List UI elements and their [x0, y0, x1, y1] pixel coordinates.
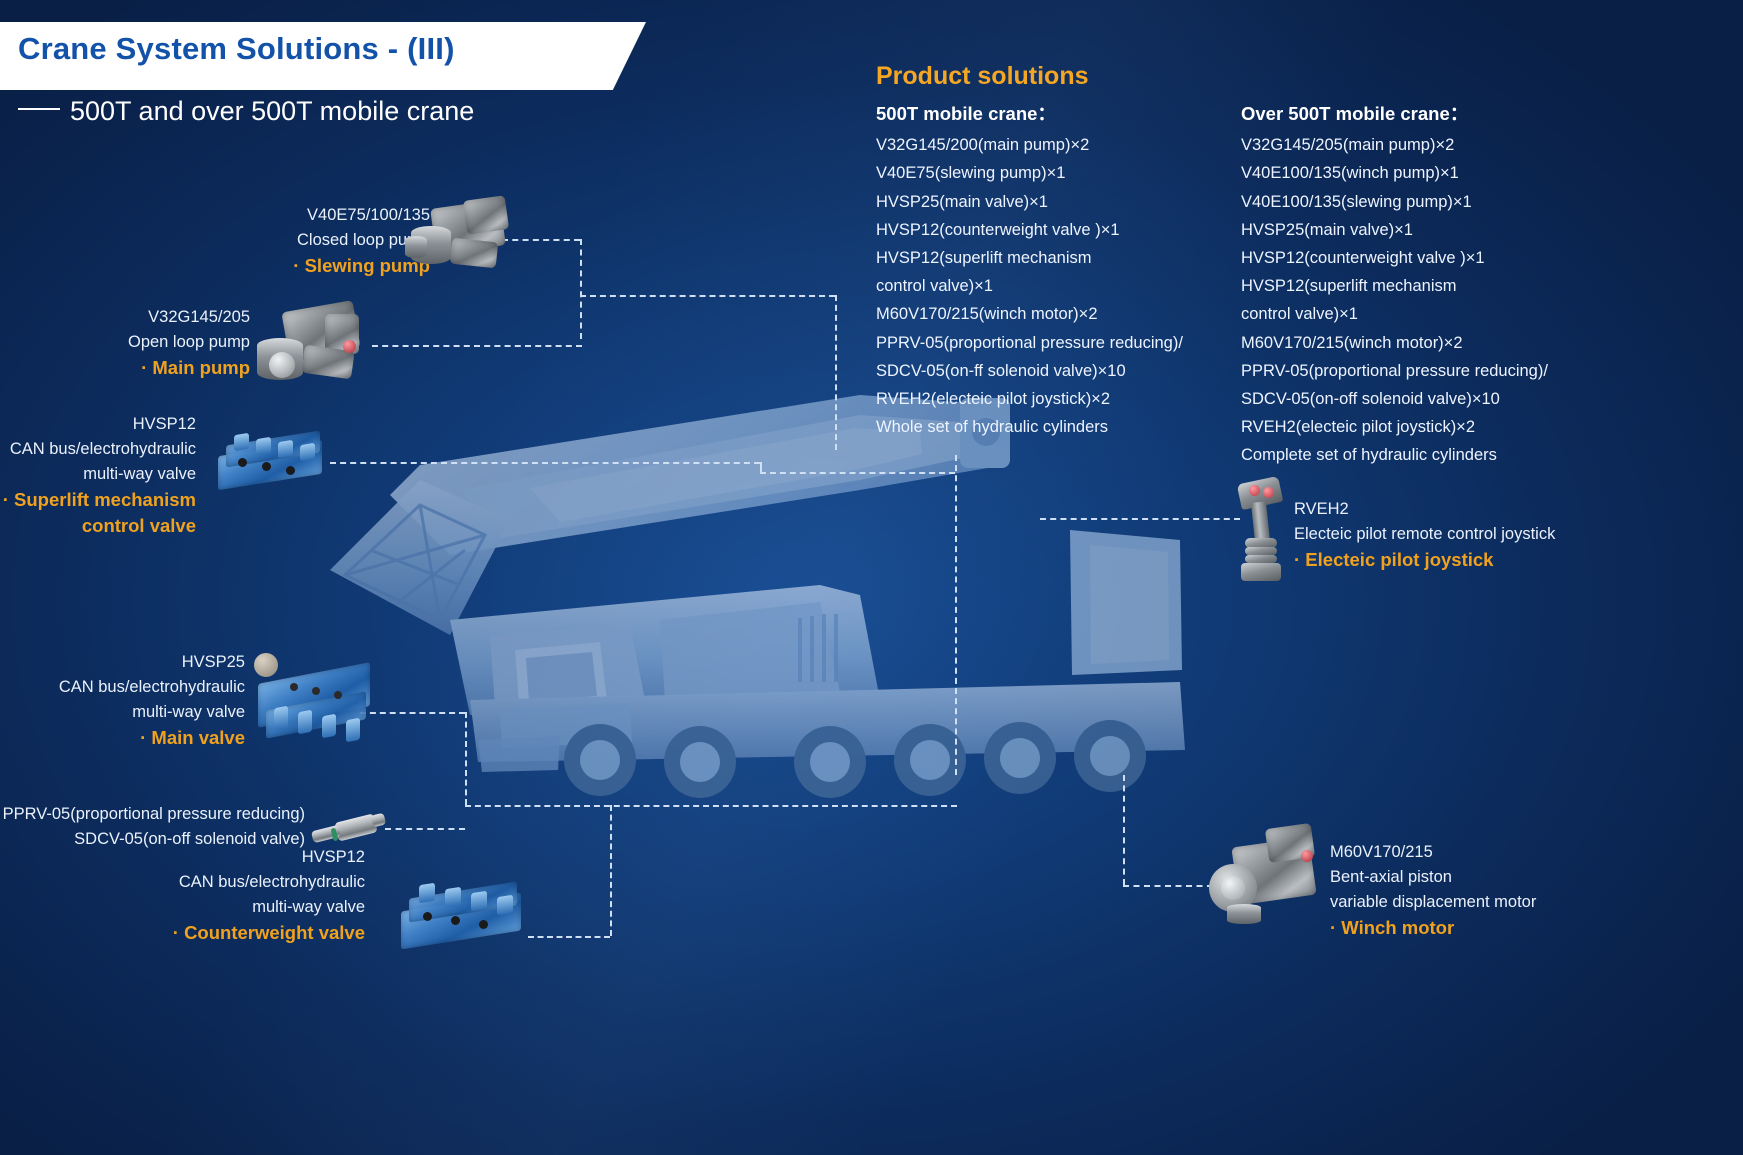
solenoid-valve-photo	[310, 812, 390, 848]
callout-line: variable displacement motor	[1330, 890, 1650, 915]
list-item: HVSP12(superlift mechanism	[1241, 272, 1641, 300]
product-solutions-title: Product solutions	[876, 62, 1089, 91]
header-stripes-decoration	[640, 22, 730, 90]
list-item: HVSP12(counterweight valve )×1	[1241, 244, 1641, 272]
callout-main-pump: V32G145/205 Open loop pump · Main pump	[60, 305, 250, 381]
product-solutions-column-over-500t: Over 500T mobile crane： V32G145/205(main…	[1241, 100, 1641, 470]
list-item: HVSP25(main valve)×1	[876, 188, 1236, 216]
list-item: Complete set of hydraulic cylinders	[1241, 441, 1641, 469]
winch-motor-photo	[1205, 820, 1335, 930]
callout-counterweight-valve: HVSP12 CAN bus/electrohydraulic multi-wa…	[60, 845, 365, 946]
callout-slewing-pump: V40E75/100/135 Closed loop pump · Slewin…	[180, 203, 430, 279]
list-item: V32G145/200(main pump)×2	[876, 131, 1236, 159]
connector-superlift-h2	[760, 472, 955, 474]
connector-main-pump-h	[372, 345, 582, 347]
connector-main-valve-h2	[465, 805, 957, 807]
callout-main-valve: HVSP25 CAN bus/electrohydraulic multi-wa…	[10, 650, 245, 751]
callout-highlight: · Main valve	[10, 725, 245, 751]
list-item: HVSP25(main valve)×1	[1241, 216, 1641, 244]
column-heading-over-500t: Over 500T mobile crane：	[1241, 100, 1641, 128]
callout-line: HVSP12	[0, 412, 196, 437]
callout-line: M60V170/215	[1330, 840, 1650, 865]
callout-line: multi-way valve	[60, 895, 365, 920]
product-solutions-column-500t: 500T mobile crane： V32G145/200(main pump…	[876, 100, 1236, 441]
list-item: RVEH2(electeic pilot joystick)×2	[876, 385, 1236, 413]
callout-line: multi-way valve	[10, 700, 245, 725]
callout-line: Bent-axial piston	[1330, 865, 1650, 890]
callout-line: PPRV-05(proportional pressure reducing)	[0, 802, 305, 827]
callout-line: CAN bus/electrohydraulic	[0, 437, 196, 462]
callout-highlight: · Slewing pump	[180, 253, 430, 279]
callout-highlight: · Superlift mechanism	[0, 487, 196, 513]
list-item: control valve)×1	[876, 272, 1236, 300]
list-item: HVSP12(superlift mechanism	[876, 244, 1236, 272]
connector-superlift-h1	[330, 462, 760, 464]
page-subtitle: 500T and over 500T mobile crane	[18, 96, 474, 127]
counterweight-valve-photo	[395, 880, 530, 955]
callout-line: V32G145/205	[60, 305, 250, 330]
column-heading-500t: 500T mobile crane：	[876, 100, 1236, 128]
connector-counterweight-h	[528, 936, 610, 938]
main-pump-photo	[255, 300, 370, 400]
subtitle-text: 500T and over 500T mobile crane	[70, 96, 474, 126]
callout-line: Electeic pilot remote control joystick	[1294, 522, 1624, 547]
connector-main-valve-h1	[360, 712, 465, 714]
callout-line: CAN bus/electrohydraulic	[60, 870, 365, 895]
callout-line: multi-way valve	[0, 462, 196, 487]
connector-winch-motor-v	[1123, 775, 1125, 885]
list-item: RVEH2(electeic pilot joystick)×2	[1241, 413, 1641, 441]
slewing-pump-photo	[405, 196, 525, 286]
list-item: M60V170/215(winch motor)×2	[876, 300, 1236, 328]
connector-joystick-h	[1040, 518, 1240, 520]
list-item: control valve)×1	[1241, 300, 1641, 328]
connector-winch-motor-h	[1123, 885, 1213, 887]
callout-winch-motor: M60V170/215 Bent-axial piston variable d…	[1330, 840, 1650, 941]
callout-line: Closed loop pump	[180, 228, 430, 253]
page-title: Crane System Solutions - (III)	[18, 31, 455, 67]
list-item: HVSP12(counterweight valve )×1	[876, 216, 1236, 244]
list-item: PPRV-05(proportional pressure reducing)/	[876, 329, 1236, 357]
callout-pilot-joystick: RVEH2 Electeic pilot remote control joys…	[1294, 497, 1624, 573]
list-item: V40E100/135(slewing pump)×1	[1241, 188, 1641, 216]
callout-line: CAN bus/electrohydraulic	[10, 675, 245, 700]
callout-highlight: control valve	[0, 513, 196, 539]
list-item: M60V170/215(winch motor)×2	[1241, 329, 1641, 357]
connector-superlift-v	[760, 462, 762, 472]
list-item: SDCV-05(on-off solenoid valve)×10	[1241, 385, 1641, 413]
connector-slewing-pump-h2	[580, 295, 835, 297]
callout-highlight: · Electeic pilot joystick	[1294, 547, 1624, 573]
list-item: V40E100/135(winch pump)×1	[1241, 159, 1641, 187]
callout-highlight: · Counterweight valve	[60, 920, 365, 946]
list-item: SDCV-05(on-ff solenoid valve)×10	[876, 357, 1236, 385]
callout-line: HVSP25	[10, 650, 245, 675]
superlift-valve-photo	[212, 430, 332, 495]
pilot-joystick-photo	[1225, 480, 1295, 585]
callout-line: Open loop pump	[60, 330, 250, 355]
subtitle-dash	[18, 108, 60, 110]
list-item: V32G145/205(main pump)×2	[1241, 131, 1641, 159]
connector-solenoid-h	[385, 828, 465, 830]
callout-line: HVSP12	[60, 845, 365, 870]
list-item: PPRV-05(proportional pressure reducing)/	[1241, 357, 1641, 385]
callout-superlift-valve: HVSP12 CAN bus/electrohydraulic multi-wa…	[0, 412, 196, 539]
callout-line: RVEH2	[1294, 497, 1624, 522]
connector-main-valve-v	[465, 712, 467, 805]
callout-line: V40E75/100/135	[180, 203, 430, 228]
main-valve-photo	[250, 645, 375, 755]
connector-superlift-v2	[955, 455, 957, 775]
callout-highlight: · Main pump	[60, 355, 250, 381]
connector-slewing-pump-v	[580, 239, 582, 339]
list-item: Whole set of hydraulic cylinders	[876, 413, 1236, 441]
connector-counterweight-v	[610, 805, 612, 936]
callout-highlight: · Winch motor	[1330, 915, 1650, 941]
list-item: V40E75(slewing pump)×1	[876, 159, 1236, 187]
connector-500t-list-v	[835, 295, 837, 450]
